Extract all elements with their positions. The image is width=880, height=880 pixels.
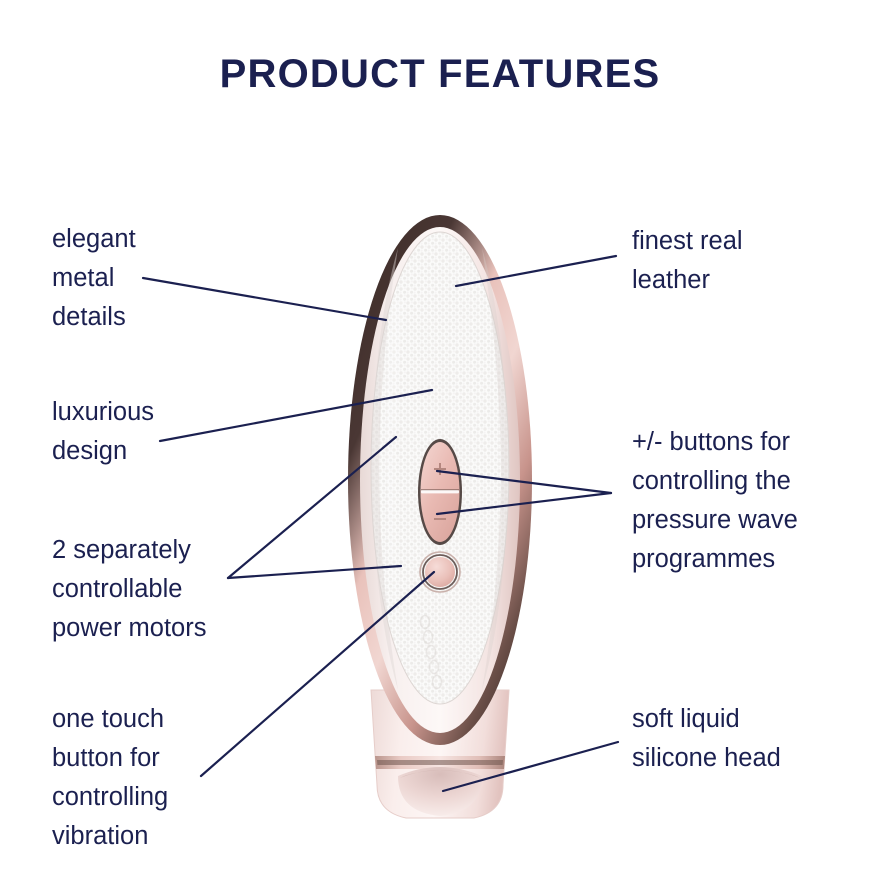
callout-luxurious-design: luxurious design bbox=[52, 393, 154, 471]
product-features-infographic: PRODUCT FEATURES bbox=[0, 0, 880, 880]
one-touch-button bbox=[425, 557, 455, 587]
minus-icon bbox=[434, 518, 446, 520]
callout-one-touch-button: one touch button for controlling vibrati… bbox=[52, 700, 168, 856]
plus-minus-button-group bbox=[418, 439, 462, 545]
callout-plus-minus-buttons: +/- buttons for controlling the pressure… bbox=[632, 423, 798, 579]
one-touch-button-group bbox=[420, 552, 460, 592]
callout-soft-liquid-silicone-head: soft liquid silicone head bbox=[632, 700, 781, 778]
callout-finest-real-leather: finest real leather bbox=[632, 222, 743, 300]
callout-elegant-metal-details: elegant metal details bbox=[52, 220, 136, 337]
callout-power-motors: 2 separately controllable power motors bbox=[52, 531, 206, 648]
